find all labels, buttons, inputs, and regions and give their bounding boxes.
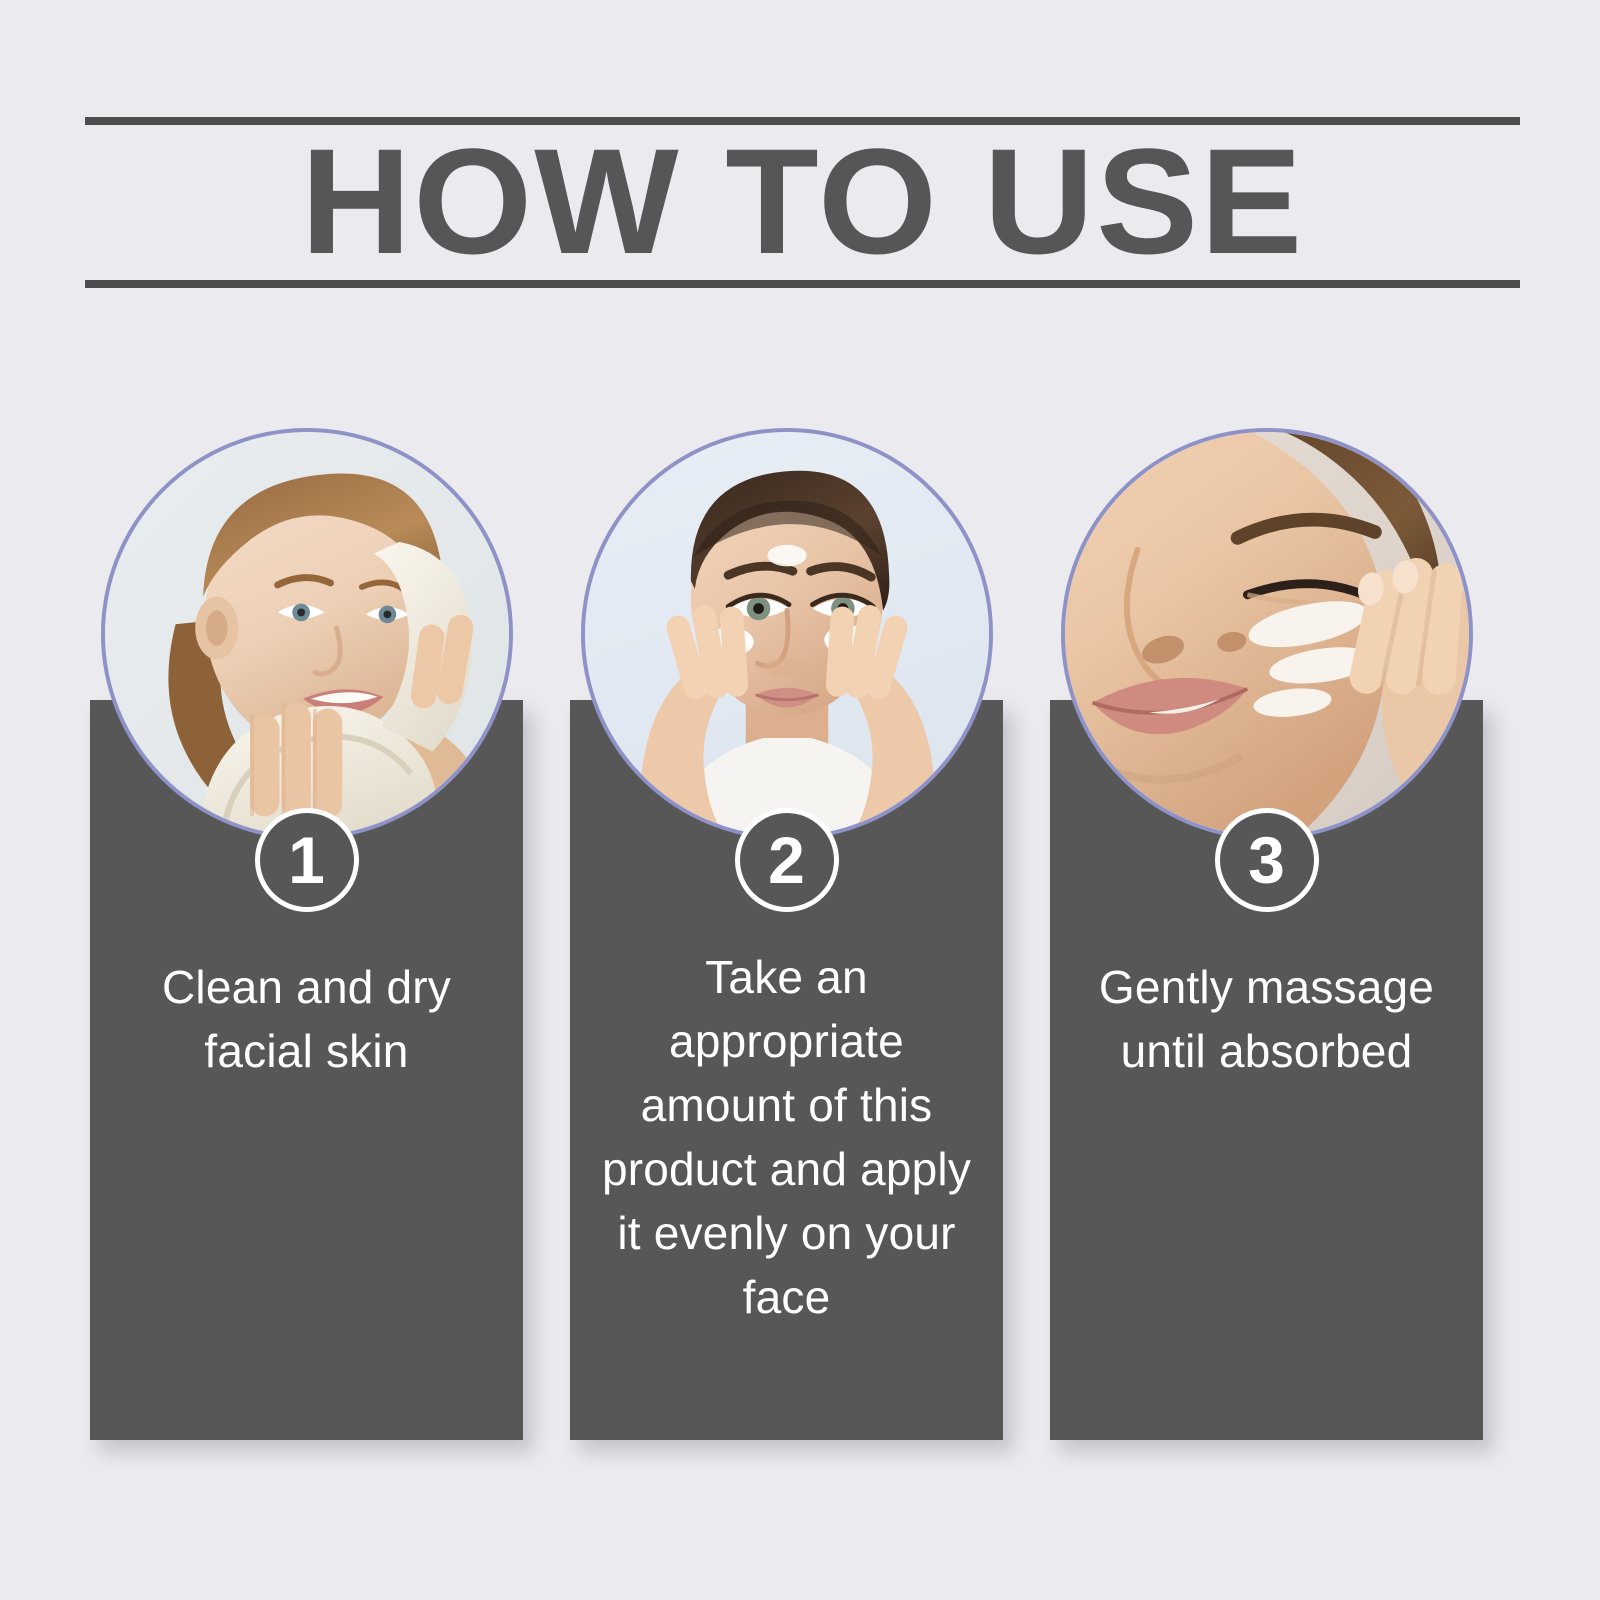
step-1-photo-circle: [101, 428, 513, 840]
woman-applying-cream-to-cheeks-photo: [585, 432, 989, 836]
step-card-1: 1 Clean and dry facial skin: [90, 700, 523, 1440]
step-3-number-badge: 3: [1215, 808, 1319, 912]
step-3-photo-circle: [1061, 428, 1473, 840]
step-card-3: 3 Gently massage until absorbed: [1050, 700, 1483, 1440]
step-2-number-badge: 2: [735, 808, 839, 912]
steps-container: 1 Clean and dry facial skin: [0, 0, 1600, 1600]
step-1-number-badge: 1: [255, 808, 359, 912]
step-3-caption: Gently massage until absorbed: [1078, 955, 1455, 1083]
woman-massaging-cream-into-cheek-photo: [1065, 432, 1469, 836]
step-card-2: 2 Take an appropriate amount of this pro…: [570, 700, 1003, 1440]
woman-drying-face-with-towel-photo: [105, 432, 509, 836]
step-1-caption: Clean and dry facial skin: [118, 955, 495, 1083]
step-2-caption: Take an appropriate amount of this produ…: [598, 945, 975, 1329]
step-2-photo-circle: [581, 428, 993, 840]
